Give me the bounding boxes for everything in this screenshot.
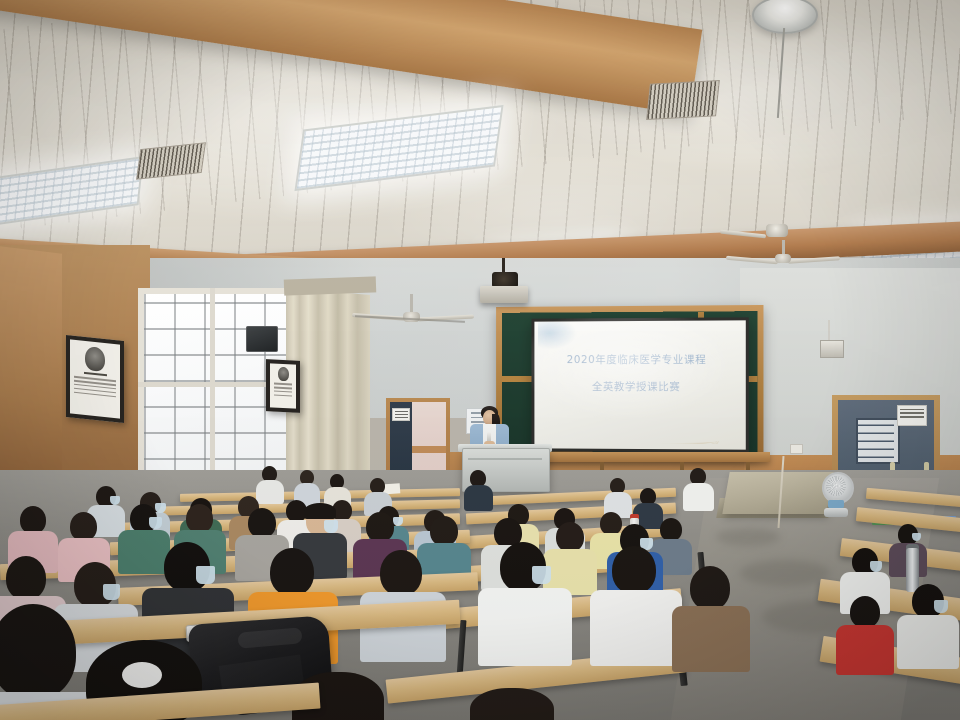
floor-stain [740,560,830,586]
scholar-portrait-poster [66,335,124,423]
standing-fan-control[interactable] [828,500,844,508]
lecture-hall-photo: 2020年度临床医学专业课程 全英教学授课比赛 [0,0,960,720]
wall-outlet [790,444,803,454]
ceiling-vent [646,80,720,120]
left-wall-panel [0,246,62,504]
wall-speaker [820,340,844,358]
poster-title-bar [84,372,107,377]
slide-text-block: 2020年度临床医学专业课程 全英教学授课比赛 [535,352,738,394]
door-sign [392,408,410,421]
lectern-seam [468,458,542,460]
exit-door-window-grid [858,420,894,458]
hair-bow [122,662,162,688]
stainless-thermos [906,548,919,592]
window-midrail [138,382,286,387]
slide-title-line-2: 全英教学授课比赛 [535,379,738,394]
ceiling-fan-rod [410,294,413,314]
wall-speaker-box [246,326,278,352]
floor-stain [716,528,780,546]
standing-fan-grille [826,476,846,496]
scholar-portrait-poster [266,359,300,413]
poster-caption-lines [74,376,116,397]
poster-caption-lines [274,383,292,397]
ceiling-fan-motor [775,254,791,263]
portrait-head [278,367,289,382]
portrait-head [85,346,105,372]
slide-decoration-top-left [538,322,578,350]
curtain-rail [284,276,377,295]
wall-speaker-rod [828,320,830,340]
standing-fan-base [824,508,848,517]
ceiling-fan-motor [766,224,788,237]
ceiling-projector [480,286,528,303]
exit-door-sign [897,405,927,426]
slide-title-line-1: 2020年度临床医学专业课程 [535,352,738,367]
front-side-door-rail [412,446,446,453]
